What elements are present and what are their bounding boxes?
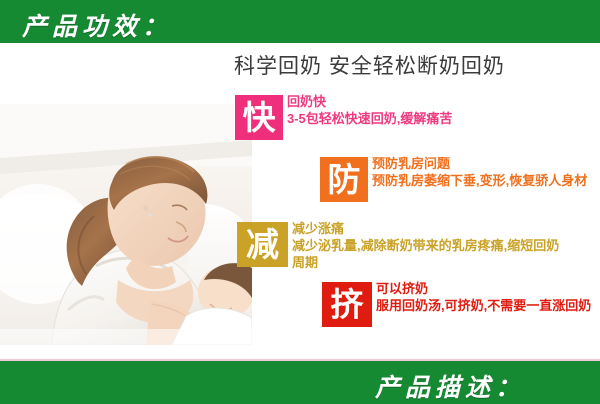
feature-express-title: 可以挤奶 [376,280,600,297]
feature-fast-text: 回奶快 3-5包轻松快速回奶,缓解痛苦 [287,93,567,127]
feature-express-desc: 服用回奶汤,可挤奶,不需要一直涨回奶 [376,297,600,314]
feature-fast-badge: 快 [235,95,283,140]
bottom-green-banner: 产品描述： [0,361,600,404]
feature-prevent-badge: 防 [320,157,368,202]
feature-reduce-desc: 减少泌乳量,减除断奶带来的乳房疼痛,缩短回奶周期 [292,237,572,271]
top-green-banner: 产品功效： [0,0,600,43]
feature-prevent-desc: 预防乳房萎缩下垂,变形,恢复骄人身材 [372,172,600,189]
product-description-heading: 产品描述： [375,368,525,404]
feature-fast-desc: 3-5包轻松快速回奶,缓解痛苦 [287,110,567,127]
product-efficacy-banner: 产品功效： [0,0,600,404]
feature-prevent-title: 预防乳房问题 [372,155,600,172]
feature-express-badge: 挤 [322,282,372,327]
product-efficacy-heading: 产品功效： [22,7,172,43]
feature-fast-title: 回奶快 [287,93,567,110]
photo-illustration [0,104,252,345]
feature-reduce-badge: 减 [237,222,288,267]
feature-reduce-title: 减少涨痛 [292,220,572,237]
page-title: 科学回奶 安全轻松断奶回奶 [234,50,594,80]
feature-express-text: 可以挤奶 服用回奶汤,可挤奶,不需要一直涨回奶 [376,280,600,314]
feature-prevent-text: 预防乳房问题 预防乳房萎缩下垂,变形,恢复骄人身材 [372,155,600,189]
mother-and-baby-photo [0,104,252,345]
feature-reduce-text: 减少涨痛 减少泌乳量,减除断奶带来的乳房疼痛,缩短回奶周期 [292,220,572,271]
